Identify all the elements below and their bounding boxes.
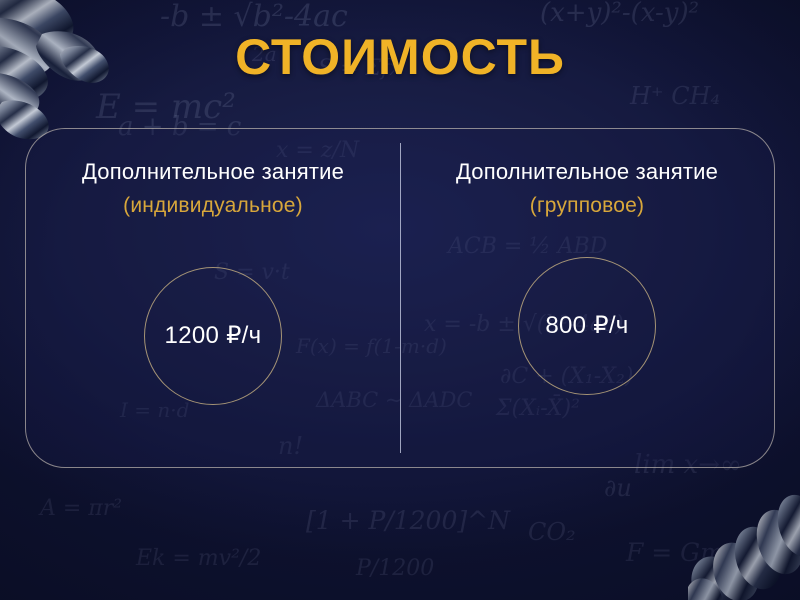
column-heading: Дополнительное занятие (82, 159, 344, 185)
column-subheading: (групповое) (530, 194, 645, 218)
price-circle: 800 ₽/ч (518, 257, 656, 395)
page-title: СТОИМОСТЬ (0, 28, 800, 86)
price-circle-wrap: 1200 ₽/ч (26, 218, 400, 467)
price-circle: 1200 ₽/ч (144, 267, 282, 405)
column-subheading: (индивидуальное) (123, 194, 303, 218)
pricing-card: Дополнительное занятие (индивидуальное) … (25, 128, 775, 468)
pricing-column-group: Дополнительное занятие (групповое) 800 ₽… (400, 129, 774, 467)
column-heading: Дополнительное занятие (456, 159, 718, 185)
price-circle-wrap: 800 ₽/ч (400, 218, 774, 467)
pricing-slide: -b ± √b²-4ac 2a E = mc² (x+y)²-(x-y)² H⁺… (0, 0, 800, 600)
pricing-column-individual: Дополнительное занятие (индивидуальное) … (26, 129, 400, 467)
